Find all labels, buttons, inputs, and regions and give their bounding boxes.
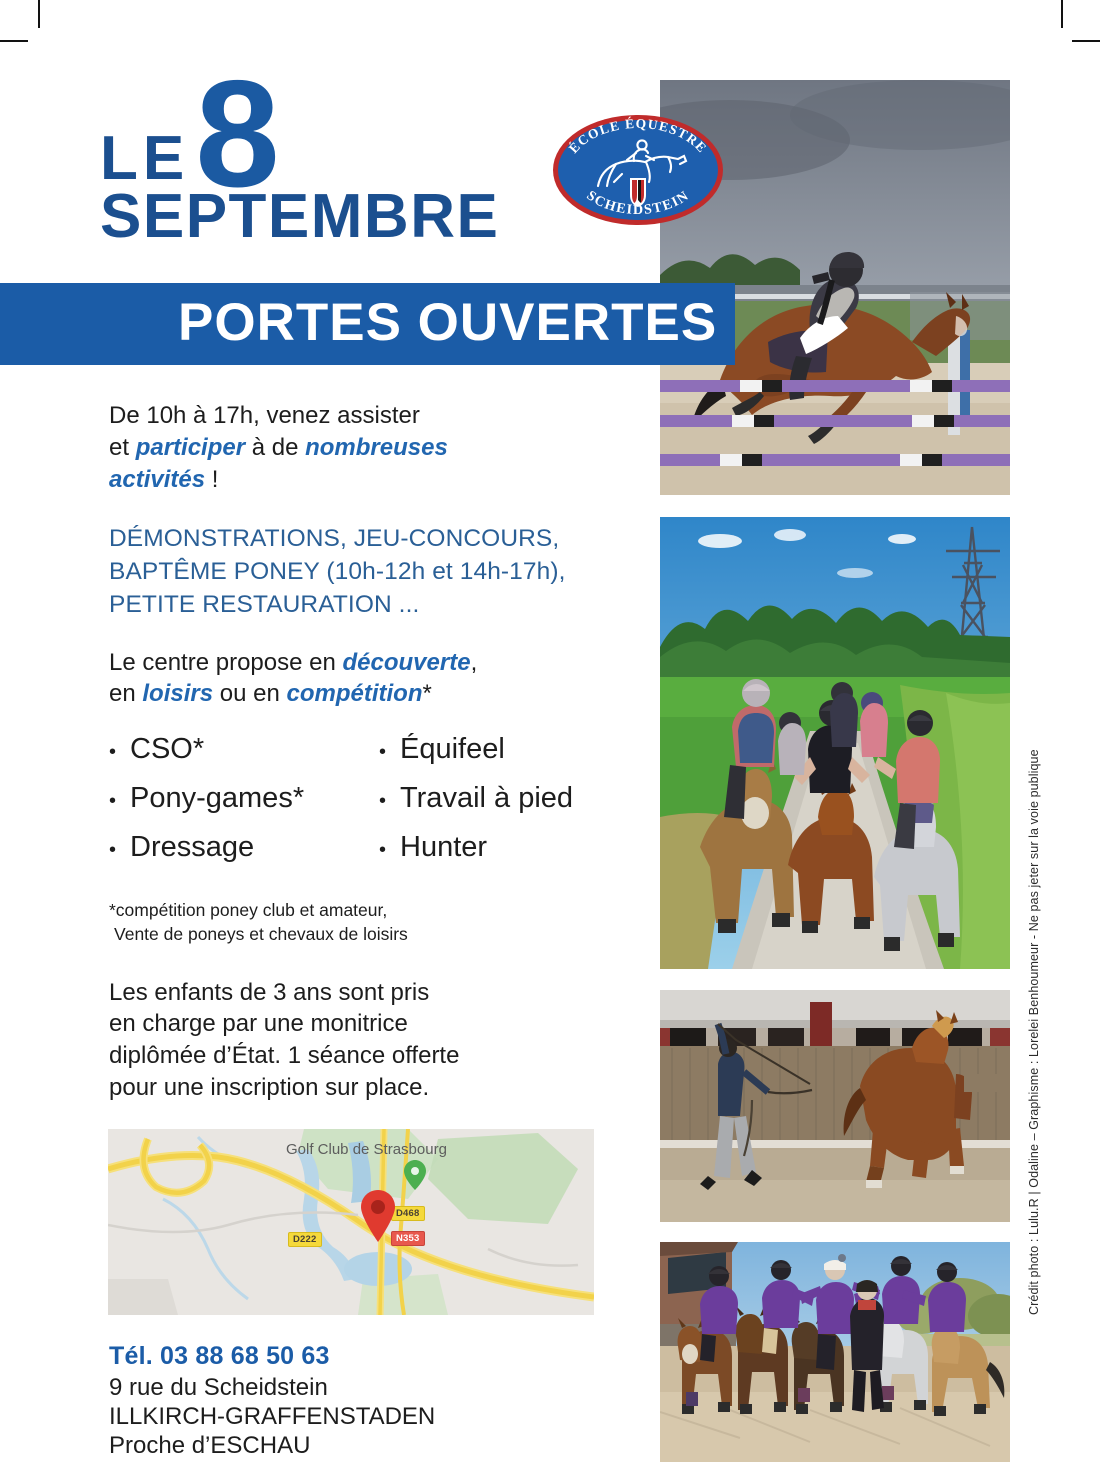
address-near: Proche d’ESCHAU xyxy=(109,1432,310,1459)
discipline-item: • Pony-games* xyxy=(109,784,379,813)
bullet-icon: • xyxy=(109,840,116,860)
shield-emblem-icon xyxy=(630,178,646,207)
intro-line-2-prefix: et xyxy=(109,434,136,461)
discipline-label: Hunter xyxy=(400,833,487,862)
discipline-item: • Équifeel xyxy=(379,735,649,764)
disciplines-column-right: • Équifeel • Travail à pied • Hunter xyxy=(379,735,649,882)
footnote-line-1: *compétition poney club et amateur, xyxy=(109,900,387,920)
intro-accent-nombreuses: nombreuses xyxy=(305,434,448,461)
footnote-line-2: Vente de poneys et chevaux de loisirs xyxy=(109,922,649,946)
headline-day: 8 xyxy=(195,78,278,190)
discipline-item: • Travail à pied xyxy=(379,784,649,813)
groundwork-photo xyxy=(660,990,1010,1222)
offer-line-1-prefix: Le centre propose en xyxy=(109,649,343,676)
trail-ride-photo-svg xyxy=(660,517,1010,969)
crop-mark-top-right-horizontal xyxy=(1072,40,1100,42)
disciplines-list: • CSO* • Pony-games* • Dressage • Équife… xyxy=(109,735,649,882)
disciplines-column-left: • CSO* • Pony-games* • Dressage xyxy=(109,735,379,882)
intro-line-2-mid: à de xyxy=(245,434,305,461)
intro-line-1: De 10h à 17h, venez assister xyxy=(109,402,420,429)
activities-caps-line-1: DÉMONSTRATIONS, JEU-CONCOURS, xyxy=(109,525,559,552)
trail-ride-photo xyxy=(660,517,1010,969)
offer-paragraph: Le centre propose en découverte, en lois… xyxy=(109,647,649,709)
photo-credit: Crédit photo : Lulu.R | Odaline – Graphi… xyxy=(1027,615,1051,1315)
groundwork-photo-svg xyxy=(660,990,1010,1222)
discipline-item: • Dressage xyxy=(109,833,379,862)
bullet-icon: • xyxy=(379,742,386,762)
discipline-item: • CSO* xyxy=(109,735,379,764)
logo-svg: ÉCOLE ÉQUESTRE SCHEIDSTEIN xyxy=(550,112,726,228)
discipline-label: Dressage xyxy=(130,833,254,862)
offer-line-2-prefix: en xyxy=(109,680,142,707)
children-line-4: pour une inscription sur place. xyxy=(109,1074,429,1101)
map-road-badge-d222: D222 xyxy=(288,1232,322,1247)
intro-paragraph: De 10h à 17h, venez assister et particip… xyxy=(109,400,649,496)
intro-accent-activites: activités xyxy=(109,466,205,493)
discipline-label: Travail à pied xyxy=(400,784,573,813)
address-city: ILLKIRCH-GRAFFENSTADEN xyxy=(109,1403,435,1430)
activities-caps-paragraph: DÉMONSTRATIONS, JEU-CONCOURS, BAPTÊME PO… xyxy=(109,522,649,621)
children-line-1: Les enfants de 3 ans sont pris xyxy=(109,979,429,1006)
location-map[interactable]: Golf Club de Strasbourg D222 N353 D468 xyxy=(108,1129,594,1315)
competition-footnote: *compétition poney club et amateur, Vent… xyxy=(109,898,649,946)
activities-caps-line-2: BAPTÊME PONEY (10h-12h et 14h-17h), xyxy=(109,558,566,585)
offer-accent-decouverte: découverte xyxy=(343,649,471,676)
bullet-icon: • xyxy=(109,742,116,762)
children-paragraph: Les enfants de 3 ans sont pris en charge… xyxy=(109,977,649,1105)
offer-accent-competition: compétition xyxy=(286,680,422,707)
team-group-photo-svg xyxy=(660,1242,1010,1462)
phone-number[interactable]: Tél. 03 88 68 50 63 xyxy=(109,1342,589,1371)
team-group-photo xyxy=(660,1242,1010,1462)
banner-title: PORTES OUVERTES xyxy=(178,296,717,349)
offer-accent-loisirs: loisirs xyxy=(142,680,213,707)
crop-mark-top-right-vertical xyxy=(1061,0,1063,28)
children-line-3: diplômée d’État. 1 séance offerte xyxy=(109,1042,459,1069)
location-pin-icon xyxy=(358,1189,398,1243)
bullet-icon: • xyxy=(379,791,386,811)
discipline-label: Pony-games* xyxy=(130,784,304,813)
intro-line-3-suffix: ! xyxy=(205,466,218,493)
offer-line-1-suffix: , xyxy=(471,649,478,676)
content-column: De 10h à 17h, venez assister et particip… xyxy=(109,400,649,1223)
offer-line-2-suffix: * xyxy=(422,680,431,707)
discipline-item: • Hunter xyxy=(379,833,649,862)
bullet-icon: • xyxy=(379,840,386,860)
poster-root: LE 8 SEPTEMBRE ÉCOLE ÉQUESTRE SCHEIDSTEI… xyxy=(0,0,1100,1477)
offer-line-2-mid: ou en xyxy=(213,680,286,707)
activities-caps-line-3: PETITE RESTAURATION ... xyxy=(109,591,419,618)
school-logo: ÉCOLE ÉQUESTRE SCHEIDSTEIN xyxy=(550,112,726,228)
contact-block: Tél. 03 88 68 50 63 9 rue du Scheidstein… xyxy=(109,1342,589,1460)
address-street: 9 rue du Scheidstein xyxy=(109,1374,328,1401)
map-place-label: Golf Club de Strasbourg xyxy=(286,1141,447,1158)
bullet-icon: • xyxy=(109,791,116,811)
intro-accent-participer: participer xyxy=(136,434,245,461)
discipline-label: Équifeel xyxy=(400,735,505,764)
children-line-2: en charge par une monitrice xyxy=(109,1010,408,1037)
crop-mark-top-left-vertical xyxy=(38,0,40,28)
discipline-label: CSO* xyxy=(130,735,204,764)
crop-mark-top-left-horizontal xyxy=(0,40,28,42)
address-lines: 9 rue du Scheidstein ILLKIRCH-GRAFFENSTA… xyxy=(109,1374,589,1460)
